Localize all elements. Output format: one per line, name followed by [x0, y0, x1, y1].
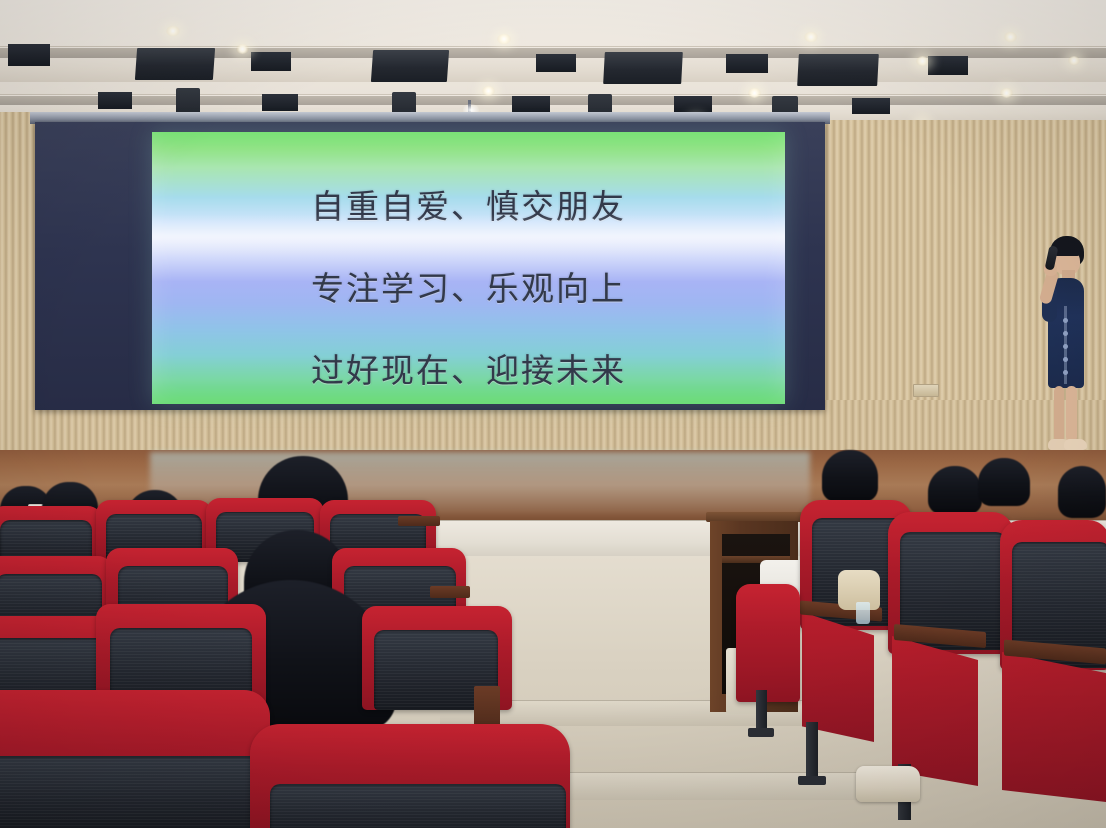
- auditorium-seat[interactable]: [736, 584, 800, 702]
- ceiling-downlight: [482, 86, 495, 96]
- ceiling-light-panel: [135, 48, 215, 80]
- ceiling-downlight: [166, 26, 180, 36]
- seat-mesh-panel: [270, 784, 566, 828]
- seat-foot: [798, 776, 826, 785]
- seat-leg: [756, 690, 767, 732]
- wall-outlet-plate: [913, 384, 939, 397]
- floor-step: [560, 772, 900, 800]
- audience-head: [928, 466, 982, 514]
- seat-writing-tray: [430, 586, 470, 598]
- seat-foot: [748, 728, 774, 737]
- audience-head: [822, 450, 878, 502]
- ceiling-panel-slot: [726, 54, 768, 73]
- dress-button: [1063, 344, 1068, 349]
- ceiling-light-panel: [371, 50, 449, 82]
- presenter-leg: [1066, 386, 1077, 442]
- ceiling-downlight: [497, 34, 511, 44]
- ceiling-downlight: [236, 44, 249, 54]
- seat-back-cushion: [736, 584, 800, 702]
- ceiling-downlight: [804, 32, 818, 42]
- dress-button: [1063, 331, 1068, 336]
- ceiling-downlight: [1068, 56, 1080, 65]
- ceiling-panel-slot: [8, 44, 50, 66]
- audience-head: [978, 458, 1030, 506]
- auditorium-seat[interactable]: [250, 724, 570, 828]
- water-bottle: [856, 602, 870, 624]
- ceiling-band-lower: [0, 96, 1106, 105]
- presenter-with-microphone: [1030, 236, 1094, 460]
- seat-writing-tray: [398, 516, 440, 526]
- ceiling-downlight: [1000, 88, 1013, 98]
- ceiling-panel-slot: [674, 96, 712, 112]
- seat-mesh-panel: [0, 756, 264, 828]
- slide-line-3: 过好现在、迎接未来: [311, 344, 626, 392]
- dress-button: [1063, 370, 1068, 375]
- seat-side-panel: [1002, 652, 1106, 802]
- ceiling-panel-slot: [536, 54, 576, 72]
- presenter-leg: [1054, 386, 1064, 442]
- white-sneaker: [856, 766, 920, 802]
- projection-screen: 自重自爱、慎交朋友 专注学习、乐观向上 过好现在、迎接未来: [152, 132, 785, 404]
- ceiling-light-panel: [603, 52, 683, 84]
- ceiling-panel-slot: [512, 96, 550, 112]
- dress-button: [1063, 318, 1068, 323]
- audience-head: [1058, 466, 1106, 518]
- dress-button: [1063, 357, 1068, 362]
- ceiling-panel-slot: [928, 56, 968, 75]
- presenter-shoe: [1064, 439, 1087, 450]
- slide-line-2: 专注学习、乐观向上: [311, 262, 626, 310]
- ceiling-downlight: [916, 56, 929, 66]
- slide-line-1: 自重自爱、慎交朋友: [311, 180, 626, 228]
- ceiling-downlight: [748, 88, 761, 98]
- slide-text-block: 自重自爱、慎交朋友 专注学习、乐观向上 过好现在、迎接未来: [152, 180, 785, 392]
- seat-leg: [806, 722, 818, 780]
- ceiling-panel-slot: [251, 52, 291, 71]
- auditorium-seat[interactable]: [0, 690, 270, 828]
- ceiling-panel-slot: [98, 92, 132, 109]
- ceiling-light-panel: [797, 54, 879, 86]
- ceiling-panel-slot: [262, 94, 298, 111]
- ceiling-downlight: [1004, 32, 1017, 42]
- ceiling-panel-slot: [852, 98, 890, 114]
- auditorium-photo: 自重自爱、慎交朋友 专注学习、乐观向上 过好现在、迎接未来: [0, 0, 1106, 828]
